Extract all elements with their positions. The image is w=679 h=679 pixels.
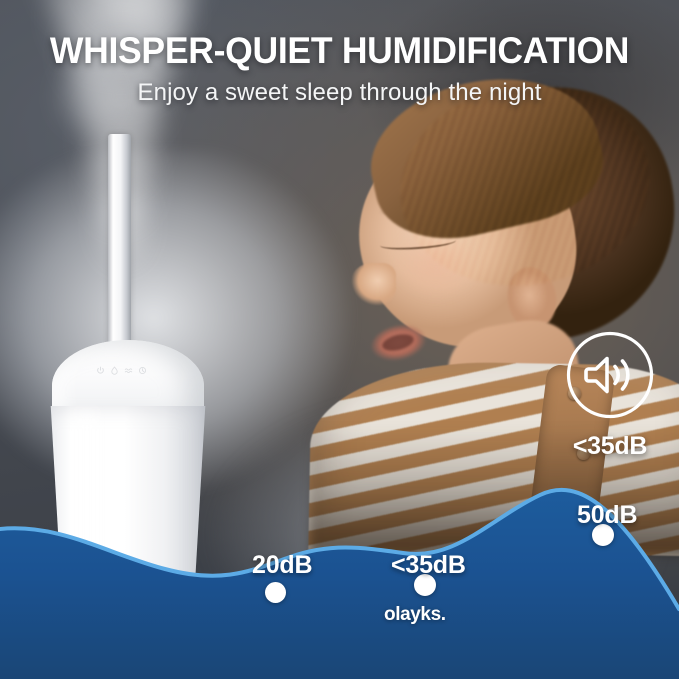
label-20db: 20dB [252, 551, 312, 580]
product-marketing-image: 20dB <35dB 50dB olayks. <35dB WHISPER-QU… [0, 0, 679, 679]
badge-label-35db: <35dB [540, 432, 679, 461]
mist-icon[interactable] [110, 366, 119, 375]
humidity-icon[interactable] [124, 366, 133, 375]
label-35db: <35dB [391, 551, 466, 580]
brand-logo: olayks. [384, 604, 446, 626]
page-subtitle: Enjoy a sweet sleep through the night [0, 79, 679, 107]
noise-level-wave-chart [0, 449, 679, 679]
label-50db: 50dB [577, 501, 637, 530]
wave-point-20db [265, 582, 286, 603]
timer-icon[interactable] [138, 366, 147, 375]
child-nose [350, 263, 396, 307]
page-title: WHISPER-QUIET HUMIDIFICATION [14, 30, 666, 72]
power-icon[interactable] [96, 366, 105, 375]
speaker-volume-icon [566, 331, 654, 419]
mist-nozzle [108, 134, 131, 356]
